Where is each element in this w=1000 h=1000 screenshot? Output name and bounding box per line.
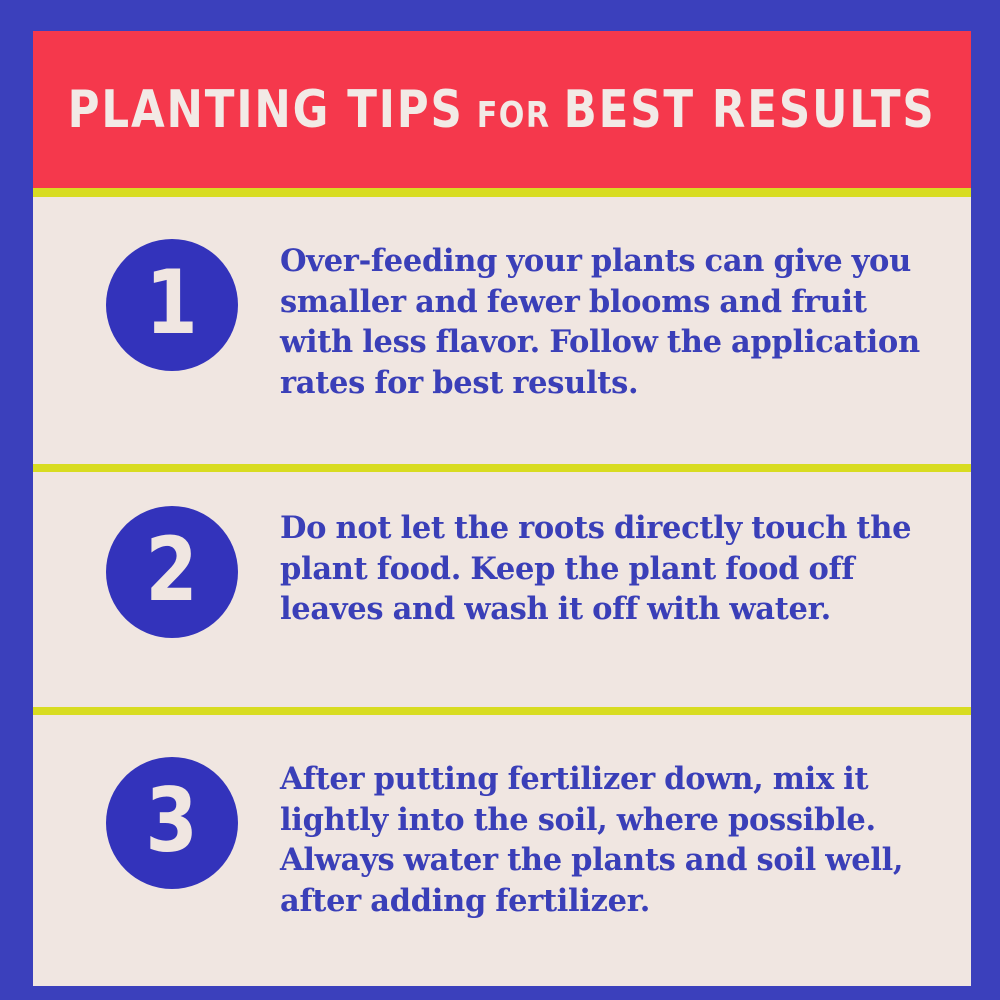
tip-item-3: 3 After putting fertilizer down, mix it … [33,715,971,986]
header-band: Planting Tips for Best Results [33,31,971,188]
divider-between-tip-1-and-2 [33,464,971,472]
tip-item-1: 1 Over-feeding your plants can give you … [33,197,971,464]
title-part-planting-tips: Planting Tips [68,84,464,136]
divider-under-header [33,188,971,197]
page-title: Planting Tips for Best Results [68,84,936,136]
tip-text-1: Over-feeding your plants can give you sm… [280,241,971,403]
divider-between-tip-2-and-3 [33,707,971,715]
tip-text-3: After putting fertilizer down, mix it li… [280,759,971,921]
badge-number-label-1: 1 [145,259,197,347]
badge-number-label-2: 2 [145,526,197,614]
infographic-card: Planting Tips for Best Results 1 Over-fe… [33,31,971,970]
tip-text-2: Do not let the roots directly touch the … [280,508,971,630]
badge-column-3: 3 [33,757,280,889]
title-part-best-results: Best Results [564,84,936,136]
badge-column-2: 2 [33,506,280,638]
badge-number-label-3: 3 [145,777,197,865]
number-badge-3: 3 [106,757,238,889]
title-part-for: for [477,98,551,134]
tips-list: 1 Over-feeding your plants can give you … [33,197,971,986]
number-badge-1: 1 [106,239,238,371]
number-badge-2: 2 [106,506,238,638]
badge-column-1: 1 [33,239,280,371]
poster-frame: Planting Tips for Best Results 1 Over-fe… [0,0,1000,1000]
tip-item-2: 2 Do not let the roots directly touch th… [33,472,971,707]
